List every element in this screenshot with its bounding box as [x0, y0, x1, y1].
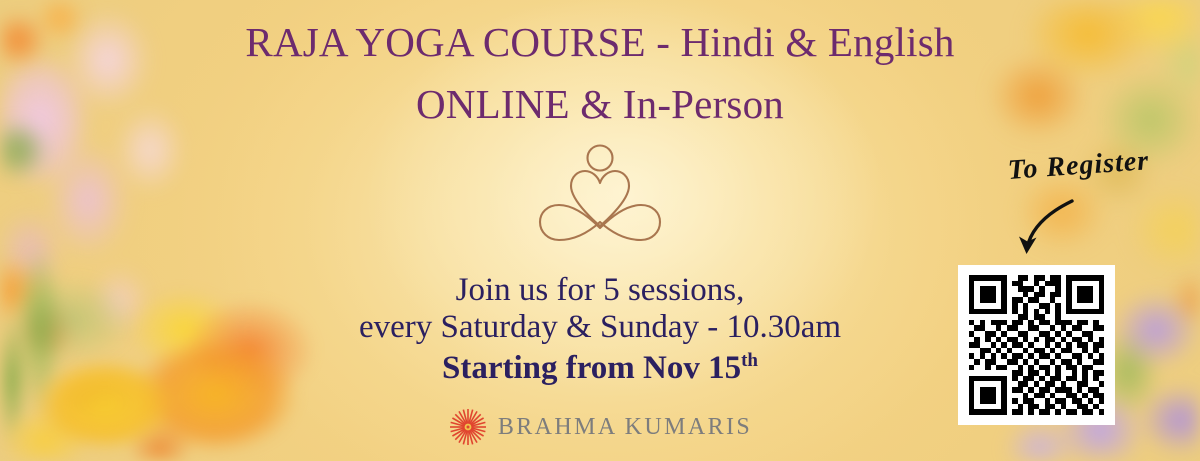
- promotional-banner: RAJA YOGA COURSE - Hindi & English ONLIN…: [0, 0, 1200, 461]
- meditation-figure-icon: [534, 142, 666, 254]
- curved-down-arrow-icon: [1008, 196, 1078, 258]
- qr-module-grid: [969, 275, 1104, 415]
- brahma-kumaris-starburst-icon: [448, 407, 488, 447]
- registration-qr-code[interactable]: [958, 265, 1115, 425]
- body-line-3-superscript: th: [741, 350, 758, 371]
- headline-line-1: RAJA YOGA COURSE - Hindi & English: [0, 18, 1200, 66]
- brahma-kumaris-logo-text: BRAHMA KUMARIS: [498, 414, 752, 441]
- body-line-3-text: Starting from Nov 15: [442, 350, 741, 386]
- to-register-label: To Register: [1007, 145, 1150, 187]
- headline-line-2: ONLINE & In-Person: [0, 80, 1200, 128]
